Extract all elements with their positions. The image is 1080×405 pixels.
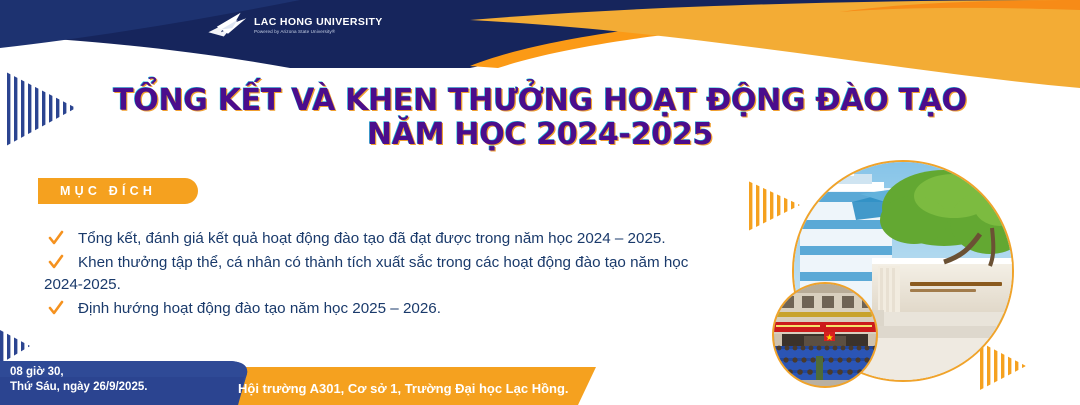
event-banner: LAC HONG UNIVERSITY Powered by Arizona S…	[0, 0, 1080, 405]
list-item-text: Định hướng hoạt động đào tạo năm học 202…	[78, 300, 441, 317]
footer-date: Thứ Sáu, ngày 26/9/2025.	[10, 380, 147, 395]
logo-title: LAC HONG UNIVERSITY	[254, 17, 383, 28]
check-icon	[48, 254, 64, 270]
list-item: Khen thưởng tập thể, cá nhân có thành tí…	[44, 252, 704, 296]
lac-hong-bird-logo-icon	[207, 11, 249, 41]
purpose-list: Tổng kết, đánh giá kết quả hoạt động đào…	[44, 228, 704, 322]
footer-bar: 08 giờ 30, Thứ Sáu, ngày 26/9/2025. Hội …	[0, 357, 1080, 405]
university-logo: LAC HONG UNIVERSITY Powered by Arizona S…	[207, 9, 357, 43]
logo-subtitle: Powered by Arizona State University®	[254, 30, 383, 35]
list-item-text: Tổng kết, đánh giá kết quả hoạt động đào…	[78, 230, 666, 247]
list-item: Định hướng hoạt động đào tạo năm học 202…	[44, 298, 704, 320]
check-icon	[48, 300, 64, 316]
purpose-section-badge: MỤC ĐÍCH	[38, 178, 198, 204]
title-line-1: TỔNG KẾT VÀ KHEN THƯỞNG HOẠT ĐỘNG ĐÀO TẠ…	[0, 84, 1080, 118]
list-item-text: Khen thưởng tập thể, cá nhân có thành tí…	[44, 254, 688, 293]
title-line-2: NĂM HỌC 2024-2025	[0, 118, 1080, 152]
check-icon	[48, 230, 64, 246]
footer-datetime: 08 giờ 30, Thứ Sáu, ngày 26/9/2025.	[10, 365, 147, 395]
purpose-section-label: MỤC ĐÍCH	[38, 184, 156, 198]
list-item: Tổng kết, đánh giá kết quả hoạt động đào…	[44, 228, 704, 250]
footer-time: 08 giờ 30,	[10, 365, 147, 380]
page-title: TỔNG KẾT VÀ KHEN THƯỞNG HOẠT ĐỘNG ĐÀO TẠ…	[0, 84, 1080, 152]
footer-location: Hội trường A301, Cơ sở 1, Trường Đại học…	[238, 381, 569, 396]
